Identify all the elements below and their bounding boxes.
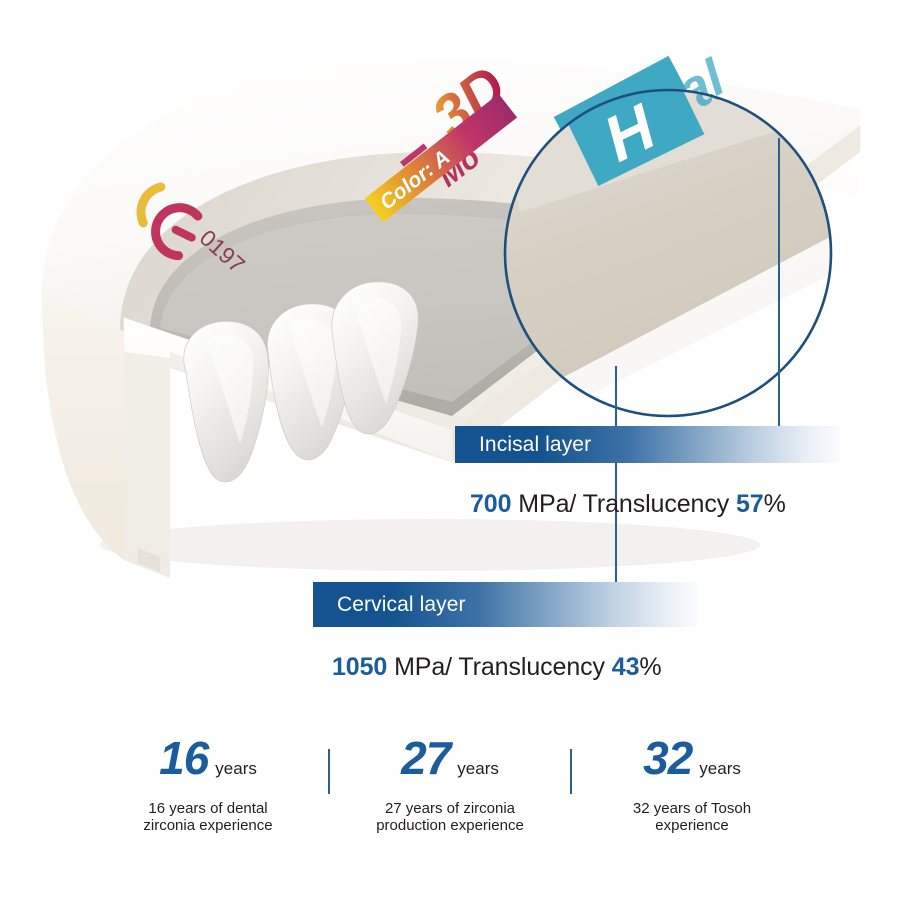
spec-line-cervical: 1050 MPa/ Translucency 43% xyxy=(332,653,662,682)
stat-block-tosoh: 32 years 32 years of Tosoh experience xyxy=(572,735,812,835)
stat-headline: 27 years xyxy=(330,735,570,797)
zirconia-disc-illustration: 3D Mo Color: A H al 0197 xyxy=(0,0,900,620)
infographic-canvas: 3D Mo Color: A H al 0197 xyxy=(0,0,900,900)
stat-number-2: 27 xyxy=(401,735,450,781)
stat-unit-1: years xyxy=(215,760,257,777)
incisal-translucency-unit: % xyxy=(764,490,786,518)
cervical-strength-unit: MPa/ Translucency xyxy=(387,653,612,681)
stat-unit-2: years xyxy=(457,760,499,777)
disc-slab-front-shade xyxy=(124,352,170,578)
leader-line-incisal xyxy=(778,138,780,432)
callout-label-incisal: Incisal layer xyxy=(455,433,591,457)
disc-shadow xyxy=(100,519,760,571)
callout-bar-cervical: Cervical layer xyxy=(313,582,698,627)
stat-headline: 16 years xyxy=(88,735,328,797)
cervical-strength-value: 1050 xyxy=(332,653,387,681)
incisal-strength-value: 700 xyxy=(470,490,511,518)
stat-description-2: 27 years of zirconia production experien… xyxy=(330,801,570,835)
cervical-translucency-unit: % xyxy=(639,653,661,681)
stat-number-3: 32 xyxy=(643,735,692,781)
stat-headline: 32 years xyxy=(572,735,812,797)
stat-description-3: 32 years of Tosoh experience xyxy=(572,801,812,835)
stat-description-1: 16 years of dental zirconia experience xyxy=(88,801,328,835)
incisal-strength-unit: MPa/ Translucency xyxy=(511,490,736,518)
stat-block-zirconia-production: 27 years 27 years of zirconia production… xyxy=(330,735,570,835)
experience-stats-row: 16 years 16 years of dental zirconia exp… xyxy=(0,735,900,865)
spec-line-incisal: 700 MPa/ Translucency 57% xyxy=(470,490,786,519)
stat-number-1: 16 xyxy=(159,735,208,781)
stat-block-dental-zirconia: 16 years 16 years of dental zirconia exp… xyxy=(88,735,328,835)
incisal-translucency-value: 57 xyxy=(736,490,764,518)
stat-unit-3: years xyxy=(699,760,741,777)
callout-label-cervical: Cervical layer xyxy=(313,593,466,617)
leader-line-cervical xyxy=(615,366,617,594)
cervical-translucency-value: 43 xyxy=(612,653,640,681)
callout-bar-incisal: Incisal layer xyxy=(455,426,840,463)
